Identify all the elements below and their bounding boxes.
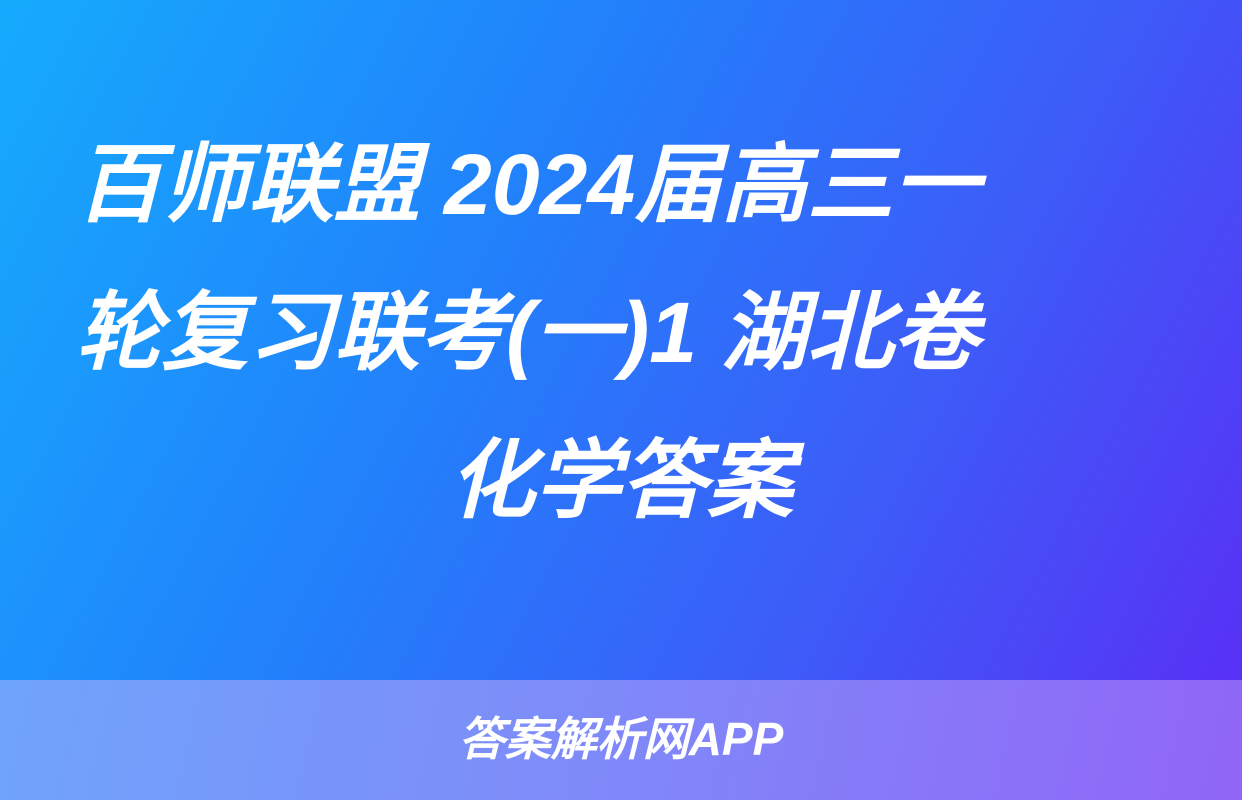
exam-title-line-2: 轮复习联考(一)1 湖北卷 <box>60 259 1182 407</box>
hero-section: 百师联盟 2024届高三一 轮复习联考(一)1 湖北卷 化学答案 <box>0 0 1242 680</box>
exam-title-line-3: 化学答案 <box>60 407 1182 555</box>
app-brand-label: 答案解析网APP <box>459 716 784 764</box>
exam-title: 百师联盟 2024届高三一 轮复习联考(一)1 湖北卷 化学答案 <box>60 111 1182 555</box>
footer-banner: 答案解析网APP <box>0 680 1242 800</box>
cover-card: 百师联盟 2024届高三一 轮复习联考(一)1 湖北卷 化学答案 答案解析网AP… <box>0 0 1242 800</box>
exam-title-line-1: 百师联盟 2024届高三一 <box>60 111 1182 259</box>
